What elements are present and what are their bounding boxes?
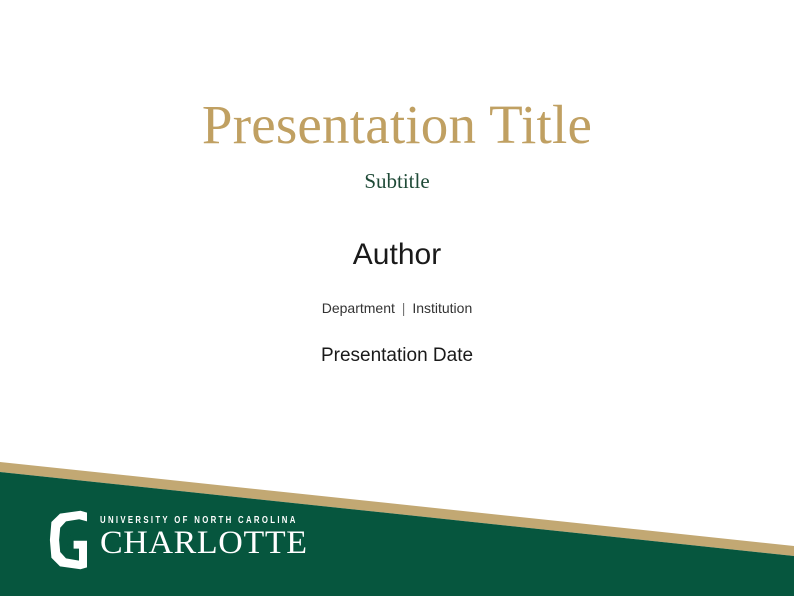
slide-title[interactable]: Presentation Title xyxy=(0,96,794,154)
presenter-metadata-block: Author Department | Institution Presenta… xyxy=(0,238,794,368)
title-block: Presentation Title Subtitle xyxy=(0,96,794,193)
unc-charlotte-logo[interactable]: UNIVERSITY OF NORTH CAROLINA CHARLOTTE xyxy=(49,510,349,572)
author-name[interactable]: Author xyxy=(0,238,794,272)
title-slide: Presentation Title Subtitle Author Depar… xyxy=(0,0,794,596)
affiliation-separator: | xyxy=(399,300,409,316)
department-label: Department xyxy=(322,300,395,316)
slide-subtitle[interactable]: Subtitle xyxy=(0,170,794,193)
institution-label: Institution xyxy=(412,300,472,316)
logo-wordmark-group: UNIVERSITY OF NORTH CAROLINA CHARLOTTE xyxy=(100,510,308,560)
presentation-date[interactable]: Presentation Date xyxy=(0,345,794,368)
logo-wordmark: CHARLOTTE xyxy=(100,527,314,560)
affiliation-line[interactable]: Department | Institution xyxy=(0,300,794,317)
unc-charlotte-crown-c-icon xyxy=(49,510,95,570)
